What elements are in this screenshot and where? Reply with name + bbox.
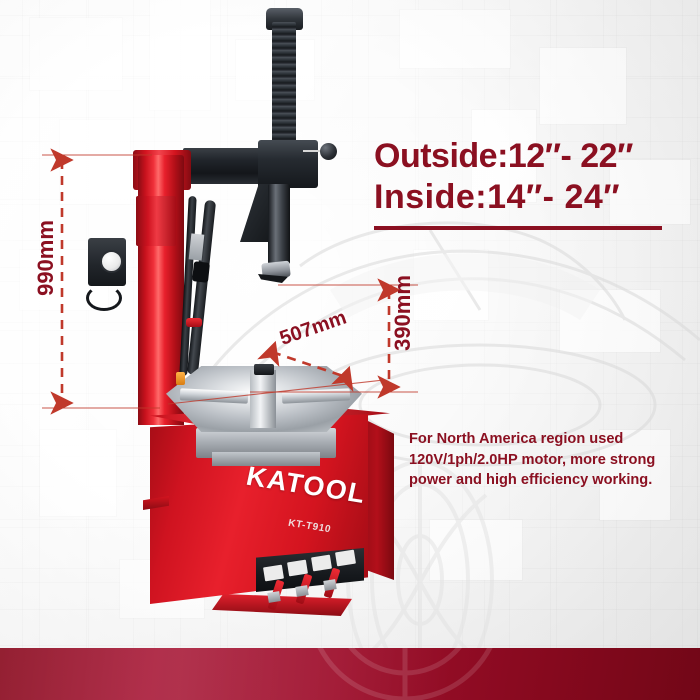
motor-spec-description: For North America region used 120V/1ph/2… (409, 429, 659, 491)
turntable-hub (254, 364, 274, 375)
dimension-label-clearance: 390mm (390, 265, 416, 361)
mount-arm-shaft (268, 184, 290, 264)
band-gloss-overlay (0, 648, 700, 700)
pedal-icon-clamp (263, 565, 284, 582)
rim-capacity-headline: Outside:12″- 22″ Inside:14″- 24″ (374, 139, 633, 214)
pedal-icon-rotate (335, 550, 356, 567)
hose-clamp-band (192, 261, 210, 283)
gauge-air-hose (86, 285, 122, 311)
column-mount-plate (136, 196, 176, 246)
pedal-pad-1 (267, 591, 280, 603)
bead-breaker-handle (186, 318, 202, 327)
dimension-label-height: 990mm (33, 210, 59, 306)
vertical-threaded-shaft (272, 22, 296, 150)
arm-head-housing (258, 140, 318, 188)
infographic-canvas: KATOOL KT-T910 990m (0, 0, 700, 700)
headline-underline (374, 226, 662, 230)
pedal-icon-tilt (311, 555, 332, 572)
turntable-center-cone (250, 370, 276, 428)
tire-changer-machine-image: KATOOL KT-T910 (0, 0, 700, 700)
hose-metal-sleeve (189, 233, 205, 260)
pedal-pad-2 (295, 585, 308, 597)
lock-knob (320, 143, 337, 160)
pressure-gauge-dial (100, 250, 123, 273)
orange-lube-cap (176, 372, 185, 385)
headline-inside-clamping: Inside:14″- 24″ (374, 180, 633, 214)
pedal-pad-3 (323, 579, 336, 591)
headline-outside-clamping: Outside:12″- 22″ (374, 139, 633, 173)
bottom-red-band (0, 648, 700, 700)
